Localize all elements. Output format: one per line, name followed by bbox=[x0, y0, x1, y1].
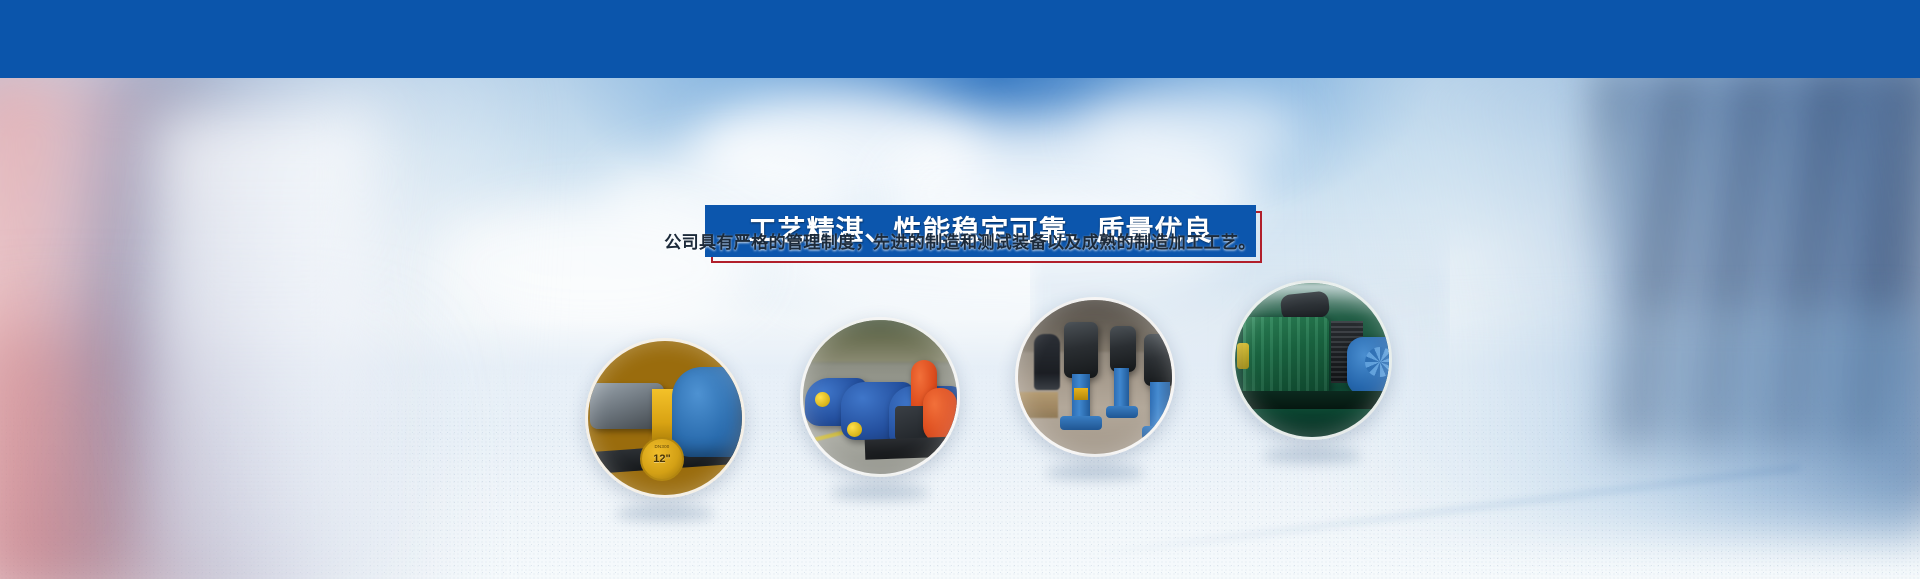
pump-foot-shape bbox=[1060, 416, 1102, 430]
background-scene: 工艺精湛、性能稳定可靠、质量优良 公司具有严格的管理制度，先进的制造和测试装备以… bbox=[0, 78, 1920, 579]
gallery-item-slurry-pump-row[interactable] bbox=[800, 317, 960, 477]
pump-foot-shape bbox=[1142, 426, 1175, 440]
product-gallery: DN300 12" bbox=[0, 280, 1920, 510]
flange-cover: DN300 12" bbox=[640, 437, 684, 481]
skid-base-shape bbox=[1235, 391, 1392, 409]
hero-subtitle: 公司具有严格的管理制度，先进的制造和测试装备以及成熟的制造加工工艺。 bbox=[0, 228, 1920, 253]
product-photo-vertical-inline-pumps[interactable] bbox=[1015, 297, 1175, 457]
pump-body-shape bbox=[1150, 382, 1170, 430]
nameplate-shape bbox=[1074, 388, 1088, 400]
flange-size-label: 12" bbox=[653, 454, 670, 465]
motor-shape bbox=[1064, 322, 1098, 378]
gallery-item-split-case-pump[interactable]: DN300 12" bbox=[585, 338, 745, 498]
worker-silhouette bbox=[1034, 334, 1060, 390]
gallery-item-vertical-inline-pumps[interactable] bbox=[1015, 297, 1175, 457]
engine-accessory-shape bbox=[1237, 343, 1249, 369]
drop-shadow bbox=[1262, 448, 1362, 464]
drop-shadow bbox=[830, 485, 930, 501]
drop-shadow bbox=[615, 506, 715, 522]
pump-cap-shape bbox=[815, 392, 830, 407]
hero-banner: 工艺精湛、性能稳定可靠、质量优良 公司具有严格的管理制度，先进的制造和测试装备以… bbox=[0, 0, 1920, 579]
flange-sub-label: DN300 bbox=[642, 444, 682, 449]
pallet-shape bbox=[1015, 392, 1058, 418]
skid-shape bbox=[865, 436, 960, 459]
product-photo-split-case-pump[interactable]: DN300 12" bbox=[585, 338, 745, 498]
pump-casing-shape bbox=[672, 367, 745, 457]
pump-cap-shape bbox=[847, 422, 862, 437]
motor-shape bbox=[1144, 334, 1175, 386]
pump-foot-shape bbox=[1106, 406, 1138, 418]
pump-body-shape bbox=[1114, 368, 1129, 410]
product-photo-slurry-pump-row[interactable] bbox=[800, 317, 960, 477]
top-brand-bar bbox=[0, 0, 1920, 78]
cloud-shape bbox=[1080, 86, 1300, 176]
motor-shape bbox=[1110, 326, 1136, 372]
orange-motor-cover-shape bbox=[923, 388, 957, 442]
product-photo-diesel-engine-pump-unit[interactable] bbox=[1232, 280, 1392, 440]
gallery-item-diesel-engine-pump-unit[interactable] bbox=[1232, 280, 1392, 440]
yard-background-shape bbox=[803, 320, 957, 362]
diesel-engine-shape bbox=[1243, 317, 1329, 395]
drop-shadow bbox=[1045, 465, 1145, 481]
impeller-shape bbox=[1365, 347, 1392, 377]
